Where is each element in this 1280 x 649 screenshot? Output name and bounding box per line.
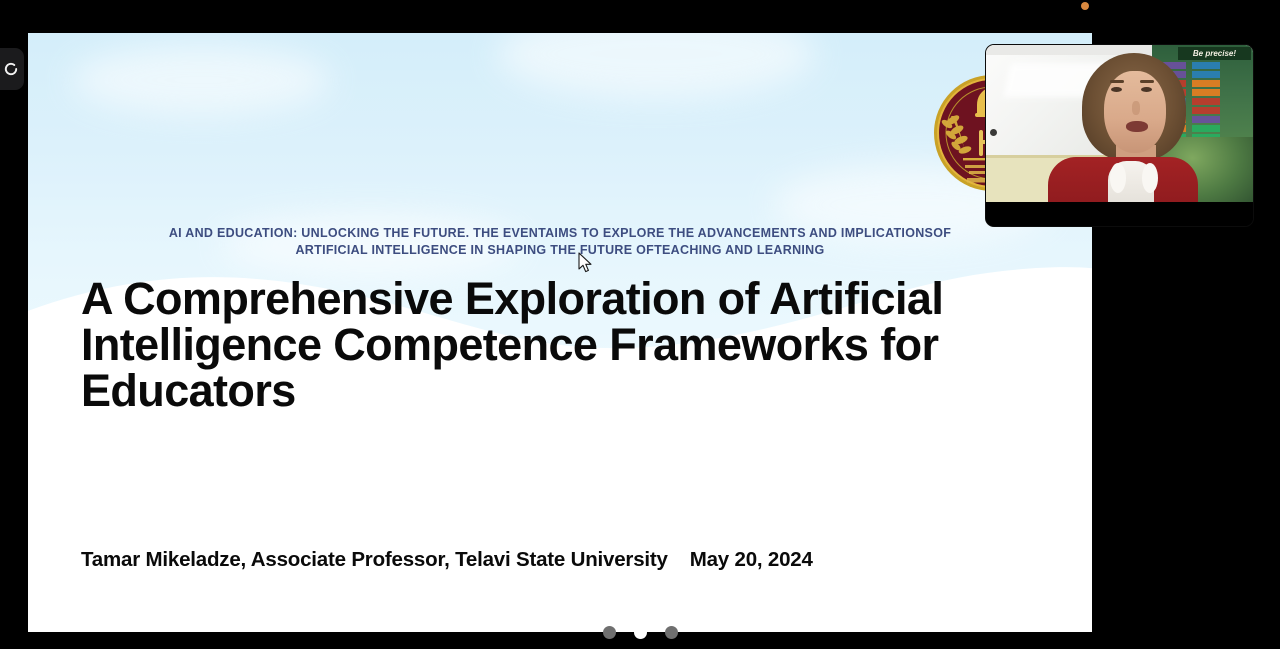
presenter-eye [1111, 87, 1122, 92]
presenter-brow [1140, 80, 1154, 83]
slide-title: A Comprehensive Exploration of Artificia… [81, 276, 1021, 414]
slide-byline: Tamar Mikeladze, Associate Professor, Te… [81, 548, 813, 572]
previous-slide-control[interactable] [0, 48, 24, 90]
whiteboard-marker-dot [990, 129, 997, 136]
poster-title-text: Be precise! [1178, 47, 1251, 60]
presenter-video-tile[interactable]: Be precise! [986, 45, 1253, 226]
presenter-eye [1141, 87, 1152, 92]
presenter-mouth [1126, 121, 1148, 132]
presentation-slide[interactable]: AI AND EDUCATION: UNLOCKING THE FUTURE. … [28, 33, 1092, 632]
pagination-dot-3[interactable] [665, 626, 678, 639]
poster-title-banner: Be precise! [1178, 47, 1251, 60]
blouse-ruffle [1110, 163, 1126, 193]
recording-indicator-dot [1081, 2, 1089, 10]
meeting-stage: AI AND EDUCATION: UNLOCKING THE FUTURE. … [0, 0, 1280, 649]
slide-eyebrow-text: AI AND EDUCATION: UNLOCKING THE FUTURE. … [28, 225, 1092, 258]
slide-pagination[interactable] [0, 626, 1280, 639]
circular-arrow-icon [2, 60, 20, 78]
presenter-nose [1132, 101, 1140, 115]
pagination-dot-2[interactable] [634, 626, 647, 639]
video-letterbox-bar [986, 202, 1253, 226]
slide-text-content: AI AND EDUCATION: UNLOCKING THE FUTURE. … [28, 33, 1092, 632]
pagination-dot-1[interactable] [603, 626, 616, 639]
presenter-brow [1110, 80, 1124, 83]
presenter-video-frame: Be precise! [986, 45, 1253, 202]
blouse-ruffle [1142, 163, 1158, 193]
